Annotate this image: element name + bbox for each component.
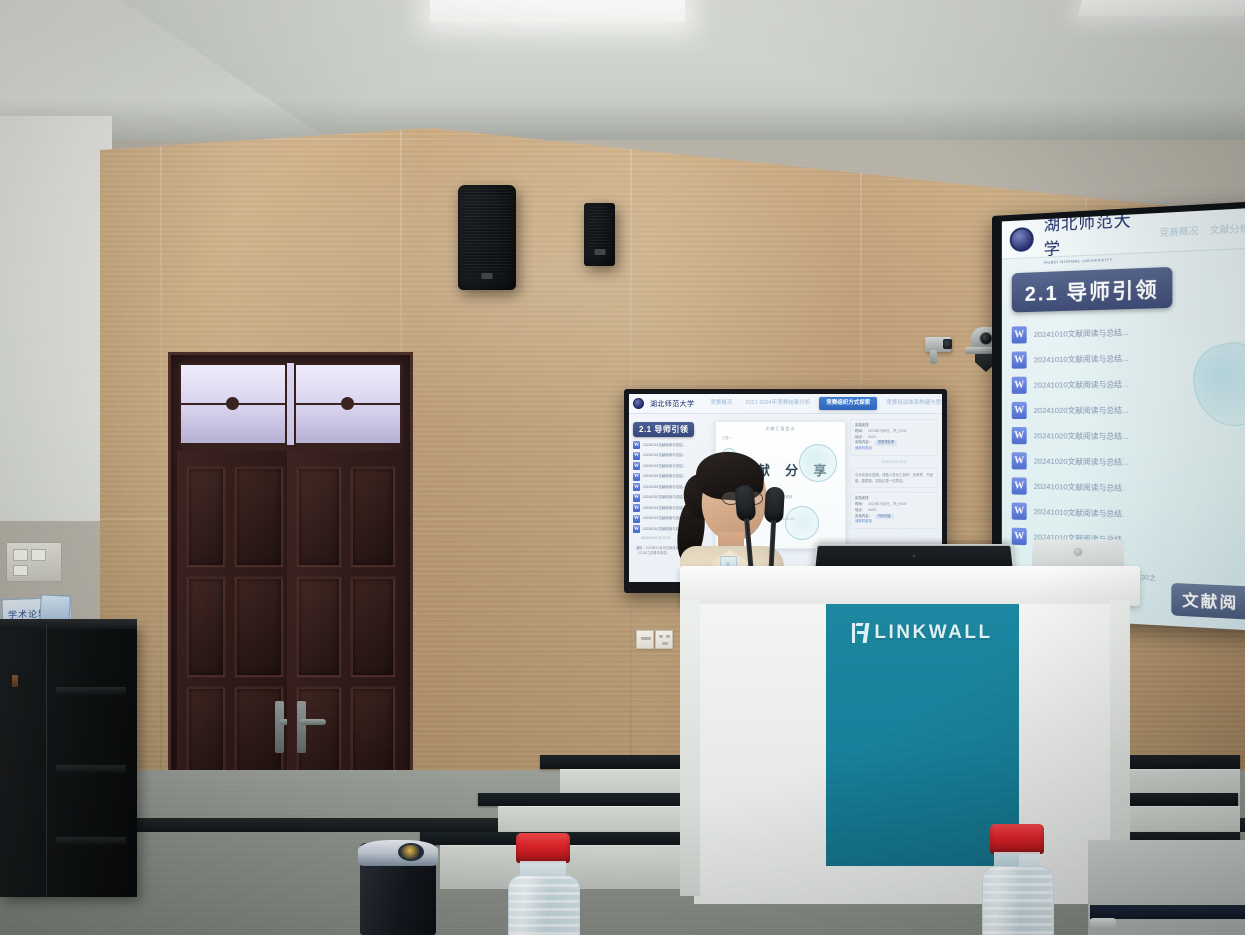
word-doc-icon: W bbox=[1012, 427, 1027, 444]
panel-switch[interactable] bbox=[13, 549, 28, 561]
door-panel bbox=[187, 467, 225, 567]
section-chip-literature-reading: 文献阅 bbox=[1171, 583, 1245, 620]
microphone-head-icon bbox=[734, 484, 756, 522]
door-panel bbox=[351, 467, 395, 567]
wall-speaker-small bbox=[584, 203, 615, 266]
transom-pane bbox=[179, 363, 287, 445]
list-item[interactable]: W20241020文献阅读与总结... bbox=[1012, 452, 1245, 473]
transom-diamond-icon bbox=[341, 397, 354, 410]
word-doc-icon: W bbox=[633, 452, 640, 460]
outlet-slot bbox=[659, 635, 663, 638]
chat-footer: 请准时参加 bbox=[855, 519, 933, 525]
chat-value-pill: 数据预处理 bbox=[875, 440, 897, 446]
lectern-side-left bbox=[680, 600, 700, 896]
ceiling-light-strip bbox=[430, 0, 685, 22]
university-name: 湖北师范大学 bbox=[1044, 208, 1138, 260]
foreground-dark-strip bbox=[1090, 905, 1245, 919]
word-doc-icon: W bbox=[1012, 452, 1027, 469]
door-lock-plate-left[interactable] bbox=[275, 701, 284, 753]
ceiling bbox=[0, 0, 1245, 140]
section-chip-mentor-guidance: 2.1 导师引领 bbox=[1012, 267, 1173, 313]
outlet-slot bbox=[666, 635, 670, 638]
panel-switch[interactable] bbox=[31, 549, 46, 561]
chat-card-2: 实验安排 时间：2024年7月3日，早上8:00 地点：3#05 实验内容：样例… bbox=[850, 492, 938, 529]
door-panel bbox=[187, 577, 225, 677]
word-doc-icon: W bbox=[633, 494, 640, 502]
panel-switch[interactable] bbox=[13, 565, 28, 576]
wood-seam bbox=[160, 128, 162, 828]
doc-label: 20241010文献阅读与总结. bbox=[1034, 481, 1125, 494]
word-doc-icon: W bbox=[1012, 326, 1027, 343]
linkwall-logo-icon bbox=[852, 623, 869, 643]
cabinet-vent bbox=[56, 765, 126, 773]
lecture-hall-scene: 湖北师范大学 竞赛概况 2021-2024年竞赛结果分析 竞赛组织方式探索 竞赛… bbox=[0, 0, 1245, 935]
door-panel bbox=[351, 577, 395, 677]
doc-label: 20241010文献阅读与总结... bbox=[1034, 379, 1129, 391]
university-logo-icon bbox=[1010, 226, 1034, 251]
lectern[interactable]: LINKWALL bbox=[680, 566, 1140, 906]
section-chip-mentor-guidance: 2.1 导师引领 bbox=[633, 422, 694, 437]
wall-speaker-large bbox=[458, 185, 516, 290]
cabinet-vent bbox=[56, 687, 126, 695]
list-item[interactable]: W20241010文献阅读与总结... bbox=[1012, 321, 1245, 344]
word-doc-icon: W bbox=[633, 515, 640, 523]
water-bottle-left bbox=[504, 833, 584, 935]
word-doc-icon: W bbox=[633, 483, 640, 491]
wall-outlet-left[interactable] bbox=[636, 630, 654, 649]
tab-competition-overview[interactable]: 竞赛概况 bbox=[706, 398, 736, 408]
door-panel bbox=[297, 577, 341, 677]
door-lock-plate-right[interactable] bbox=[297, 701, 306, 753]
word-doc-icon: W bbox=[1012, 477, 1027, 494]
word-doc-icon: W bbox=[633, 525, 640, 533]
doc-card-subheader: 汇报人： bbox=[716, 432, 845, 440]
bottle-ribs bbox=[983, 867, 1053, 935]
cctv-camera-mount bbox=[930, 350, 937, 364]
tab-literature-analysis[interactable]: 文献分析 bbox=[1210, 221, 1245, 237]
tab-training-system[interactable]: 竞赛培训体系构建与思考 bbox=[882, 398, 942, 408]
list-item[interactable]: W20241020文献阅读与总结... bbox=[1012, 427, 1245, 446]
cabinet-door-seam bbox=[46, 625, 47, 897]
doc-card-header: 文献汇报会议 bbox=[716, 422, 845, 432]
wall-white-left bbox=[0, 116, 112, 521]
transom-pane bbox=[294, 363, 402, 445]
linkwall-brand: LINKWALL bbox=[852, 622, 992, 644]
word-doc-icon: W bbox=[633, 504, 640, 512]
camera-lens-icon bbox=[980, 332, 993, 345]
lectern-top-surface bbox=[680, 566, 1140, 606]
bottle-ribs bbox=[509, 876, 579, 935]
word-doc-icon: W bbox=[633, 441, 640, 449]
door-leaf-left[interactable] bbox=[177, 451, 294, 825]
slide-nav-tabs[interactable]: 竞赛概况 2021-2024年竞赛结果分析 竞赛组织方式探索 竞赛培训体系构建与… bbox=[706, 397, 942, 409]
word-doc-icon: W bbox=[1012, 402, 1027, 419]
speaker-grille bbox=[462, 189, 512, 274]
word-doc-icon: W bbox=[1012, 528, 1027, 546]
outlet-slot bbox=[641, 637, 651, 640]
chat-card-1: 实验安排 时间：2024年7月5日，早上9:00 地点：3#04 实验内容：数据… bbox=[850, 419, 938, 456]
door-panel bbox=[187, 687, 225, 782]
door-panel bbox=[297, 467, 341, 567]
university-name: 湖北师范大学 bbox=[650, 399, 694, 409]
door-panel bbox=[235, 577, 283, 677]
bottle-cap-icon bbox=[516, 833, 570, 863]
entrance-door[interactable] bbox=[168, 352, 413, 832]
microphone-head-icon bbox=[764, 487, 785, 524]
tab-organization-method[interactable]: 竞赛组织方式探索 bbox=[819, 397, 877, 409]
word-doc-icon: W bbox=[633, 462, 640, 470]
tumbler-badge-icon bbox=[398, 843, 424, 861]
chat-paragraph: 今天实验分四组，请各人员分工协作：负责样、书品组、数据录、实验记录一位同志。 bbox=[850, 468, 938, 488]
cctv-camera-icon bbox=[925, 337, 951, 352]
cabinet-top bbox=[0, 619, 137, 629]
outlet-slot bbox=[662, 642, 668, 645]
word-doc-icon: W bbox=[1012, 502, 1027, 520]
doc-label: 20241020文献阅读与总结... bbox=[1034, 455, 1129, 467]
door-panel bbox=[235, 467, 283, 567]
doc-label: 20241020文献阅读与总结... bbox=[1034, 430, 1129, 442]
door-panel bbox=[351, 687, 395, 782]
speaker-badge-icon bbox=[482, 273, 493, 279]
list-item[interactable]: W20241010文献阅读与总结. bbox=[1012, 502, 1245, 526]
word-doc-icon: W bbox=[1012, 351, 1027, 368]
slide-header: 湖北师范大学 竞赛概况 2021-2024年竞赛结果分析 竞赛组织方式探索 竞赛… bbox=[629, 394, 942, 414]
word-doc-icon: W bbox=[1012, 377, 1027, 394]
doc-label: 20241020文献阅读与总结... bbox=[1034, 405, 1129, 416]
university-logo-icon bbox=[633, 398, 644, 409]
doc-label: 20241010文献阅读与总结. bbox=[1034, 506, 1125, 520]
cabinet-lock-icon[interactable] bbox=[12, 675, 18, 687]
tab-results-analysis[interactable]: 2021-2024年竞赛结果分析 bbox=[741, 398, 814, 408]
wall-control-panel[interactable] bbox=[6, 542, 62, 582]
list-item[interactable]: W20241010文献阅读与总结. bbox=[1012, 477, 1245, 499]
ceiling-light-strip-right bbox=[1078, 0, 1245, 16]
speaker-badge-icon bbox=[594, 249, 605, 255]
equipment-cabinet[interactable] bbox=[0, 625, 137, 897]
door-transom bbox=[179, 363, 402, 445]
bottle-body bbox=[982, 866, 1054, 935]
doc-label: 20241010文献阅读与总结... bbox=[1034, 327, 1129, 340]
doc-label: 20241010文献阅读与总结... bbox=[1034, 353, 1129, 366]
bottle-cap-icon bbox=[990, 824, 1044, 854]
bottle-body bbox=[508, 875, 580, 935]
foreground-handle bbox=[1090, 918, 1116, 928]
water-bottle-right bbox=[978, 824, 1058, 935]
word-doc-icon: W bbox=[633, 473, 640, 481]
cabinet-vent bbox=[56, 837, 126, 845]
ceiling-shadow bbox=[0, 100, 1245, 140]
tab-competition-overview[interactable]: 竞赛概况 bbox=[1159, 224, 1198, 240]
right-slide-tabs[interactable]: 竞赛概况 文献分析 bbox=[1159, 221, 1245, 239]
transom-diamond-icon bbox=[226, 397, 239, 410]
door-leaf-right[interactable] bbox=[287, 451, 404, 825]
speaker-grille bbox=[588, 207, 611, 250]
brand-text: LINKWALL bbox=[874, 622, 992, 644]
chat-footer: 请准时参加 bbox=[855, 446, 933, 452]
wall-outlet-right[interactable] bbox=[655, 630, 673, 649]
door-handle-right[interactable] bbox=[299, 719, 326, 725]
chat-value-pill: 样例构建 bbox=[875, 514, 894, 520]
chat-divider-time: 2024/7/3 19:43:47 bbox=[850, 460, 938, 464]
